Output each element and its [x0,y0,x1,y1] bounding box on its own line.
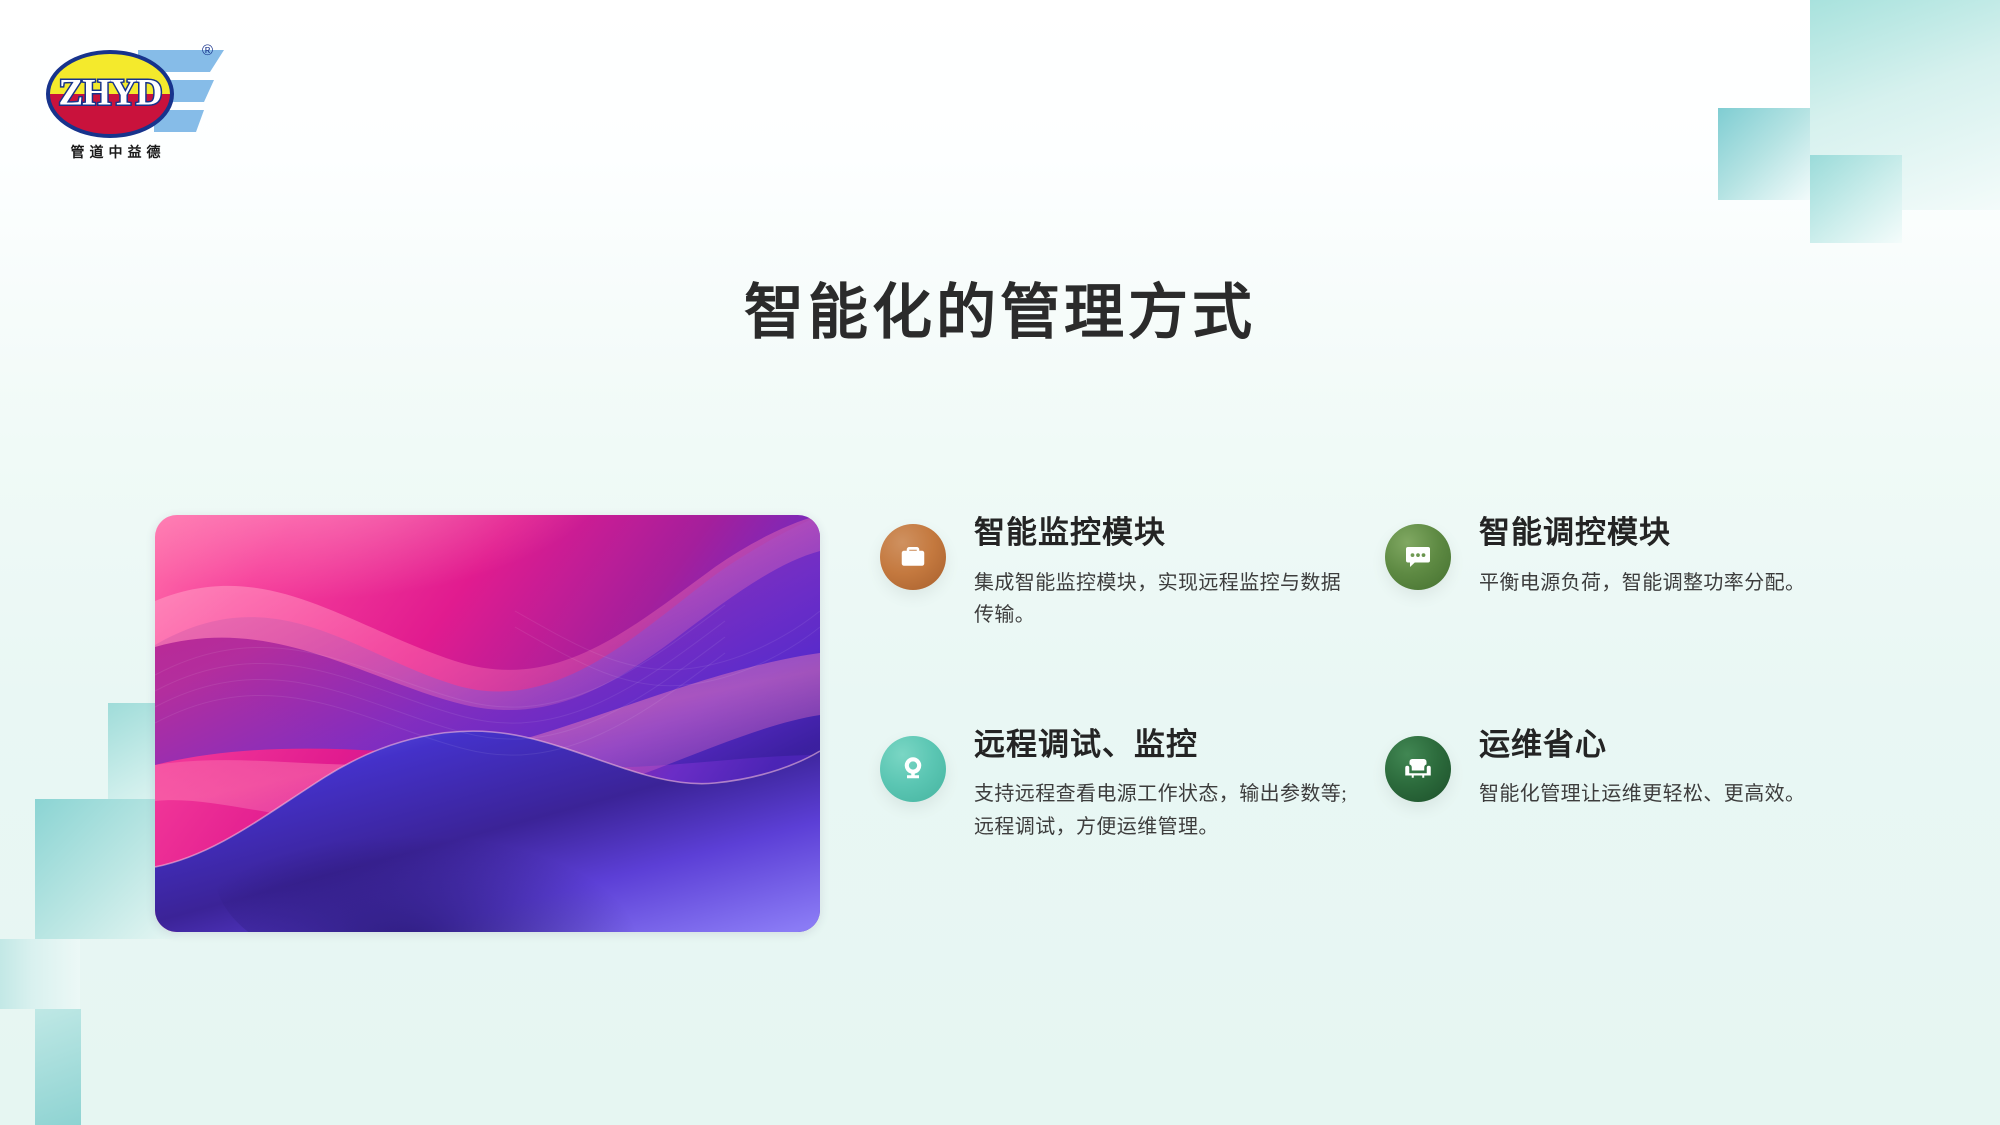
feature-item-easy-ops[interactable]: 运维省心 智能化管理让运维更轻松、更高效。 [1385,724,1890,844]
feature-item-monitoring[interactable]: 智能监控模块 集成智能监控模块，实现远程监控与数据传输。 [880,512,1385,632]
feature-description: 平衡电源负荷，智能调整功率分配。 [1479,567,1805,599]
feature-row-1: 智能监控模块 集成智能监控模块，实现远程监控与数据传输。 智能调控模块 平衡电源… [880,512,1890,632]
decorative-square-top-right-medium [1718,108,1810,200]
logo-company-name: 管道中益德 [48,142,188,162]
feature-grid: 智能监控模块 集成智能监控模块，实现远程监控与数据传输。 智能调控模块 平衡电源… [880,512,1890,843]
chat-bubble-icon [1385,524,1451,590]
slide-canvas: ZHYD ® 管道中益德 智能化的管理方式 [0,0,2000,1125]
decorative-square-bottom-left-low [35,1009,81,1125]
page-title: 智能化的管理方式 [0,264,2000,351]
feature-description: 集成智能监控模块，实现远程监控与数据传输。 [974,567,1354,632]
decorative-square-top-right-small [1810,155,1902,243]
feature-description: 智能化管理让运维更轻松、更高效。 [1479,778,1805,810]
feature-text: 智能调控模块 平衡电源负荷，智能调整功率分配。 [1479,512,1805,599]
logo-wordmark: ZHYD [50,72,170,115]
briefcase-icon [880,524,946,590]
feature-item-remote-debug[interactable]: 远程调试、监控 支持远程查看电源工作状态，输出参数等;远程调试，方便运维管理。 [880,724,1385,844]
feature-title: 智能调控模块 [1479,514,1805,553]
hero-image [155,515,820,932]
hero-gradient-artwork [155,515,820,932]
webcam-icon [880,736,946,802]
feature-text: 智能监控模块 集成智能监控模块，实现远程监控与数据传输。 [974,512,1354,632]
feature-item-regulation[interactable]: 智能调控模块 平衡电源负荷，智能调整功率分配。 [1385,512,1890,632]
decorative-square-top-right-large [1810,0,2000,210]
sofa-icon [1385,736,1451,802]
logo-oval: ZHYD [46,50,174,138]
company-logo: ZHYD ® 管道中益德 [46,36,226,168]
feature-title: 远程调试、监控 [974,726,1354,765]
feature-description: 支持远程查看电源工作状态，输出参数等;远程调试，方便运维管理。 [974,778,1354,843]
decorative-square-bottom-left-edge [0,939,80,1009]
registered-trademark-icon: ® [202,42,213,59]
logo-mark: ZHYD ® [46,36,226,140]
feature-title: 智能监控模块 [974,514,1354,553]
feature-title: 运维省心 [1479,726,1805,765]
feature-row-2: 远程调试、监控 支持远程查看电源工作状态，输出参数等;远程调试，方便运维管理。 … [880,724,1890,844]
feature-text: 远程调试、监控 支持远程查看电源工作状态，输出参数等;远程调试，方便运维管理。 [974,724,1354,844]
feature-text: 运维省心 智能化管理让运维更轻松、更高效。 [1479,724,1805,811]
